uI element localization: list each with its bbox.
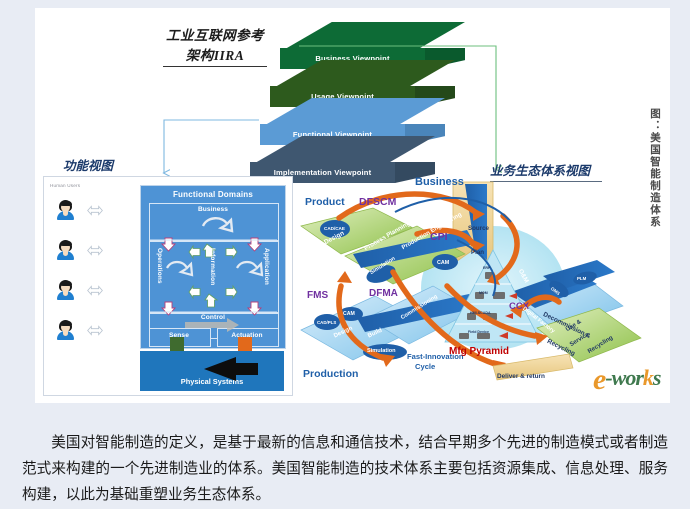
- functional-view-diagram: Human Users: [43, 176, 293, 396]
- watermark-k: k: [643, 365, 653, 390]
- physical-systems-arrow-icon: [140, 353, 284, 393]
- iira-layer-stack: Business Viewpoint Usage Viewpoint Funct…: [250, 22, 465, 167]
- domain-label-business: Business: [141, 206, 285, 213]
- human-user-row: [56, 239, 128, 261]
- bidirectional-arrow-icon: [84, 204, 106, 217]
- user-avatar-icon: [56, 320, 75, 340]
- watermark-word: -wor: [605, 365, 643, 390]
- connector-functional: [164, 120, 259, 173]
- domain-label-information: Information: [209, 248, 216, 285]
- watermark-e: e: [593, 363, 605, 396]
- business-ecosystem-diagram: BusinessProductDFSCMCPISourcePlanCAD/CAE…: [297, 168, 665, 396]
- iira-title-line2: 架构IIRA: [186, 48, 245, 63]
- human-user-row: [56, 199, 128, 221]
- bidirectional-arrow-icon: [84, 284, 106, 297]
- eworks-watermark-logo: e-works: [593, 363, 660, 397]
- human-user-row: [56, 279, 128, 301]
- bidirectional-arrow-icon: [84, 244, 106, 257]
- ecosystem-graphics: [297, 168, 665, 396]
- figure-vertical-caption: 图：美国智能制造体系: [647, 108, 662, 228]
- human-users-label: Human Users: [50, 183, 80, 188]
- bidirectional-arrow-icon: [84, 324, 106, 337]
- user-avatar-icon: [56, 240, 75, 260]
- figure-card: 工业互联网参考 架构IIRA Business Viewpoint Usage …: [35, 8, 670, 403]
- domain-label-operations: Operations: [156, 248, 163, 284]
- watermark-s: s: [653, 365, 661, 390]
- functional-domains-block: Functional Domains: [140, 185, 286, 349]
- domain-label-application: Application: [263, 248, 270, 285]
- human-user-row: [56, 319, 128, 341]
- user-avatar-icon: [56, 200, 75, 220]
- domain-label-control: Control: [141, 314, 285, 321]
- caption-functional-view: 功能视图: [63, 155, 149, 177]
- user-avatar-icon: [56, 280, 75, 300]
- caption-functional-text: 功能视图: [63, 159, 113, 173]
